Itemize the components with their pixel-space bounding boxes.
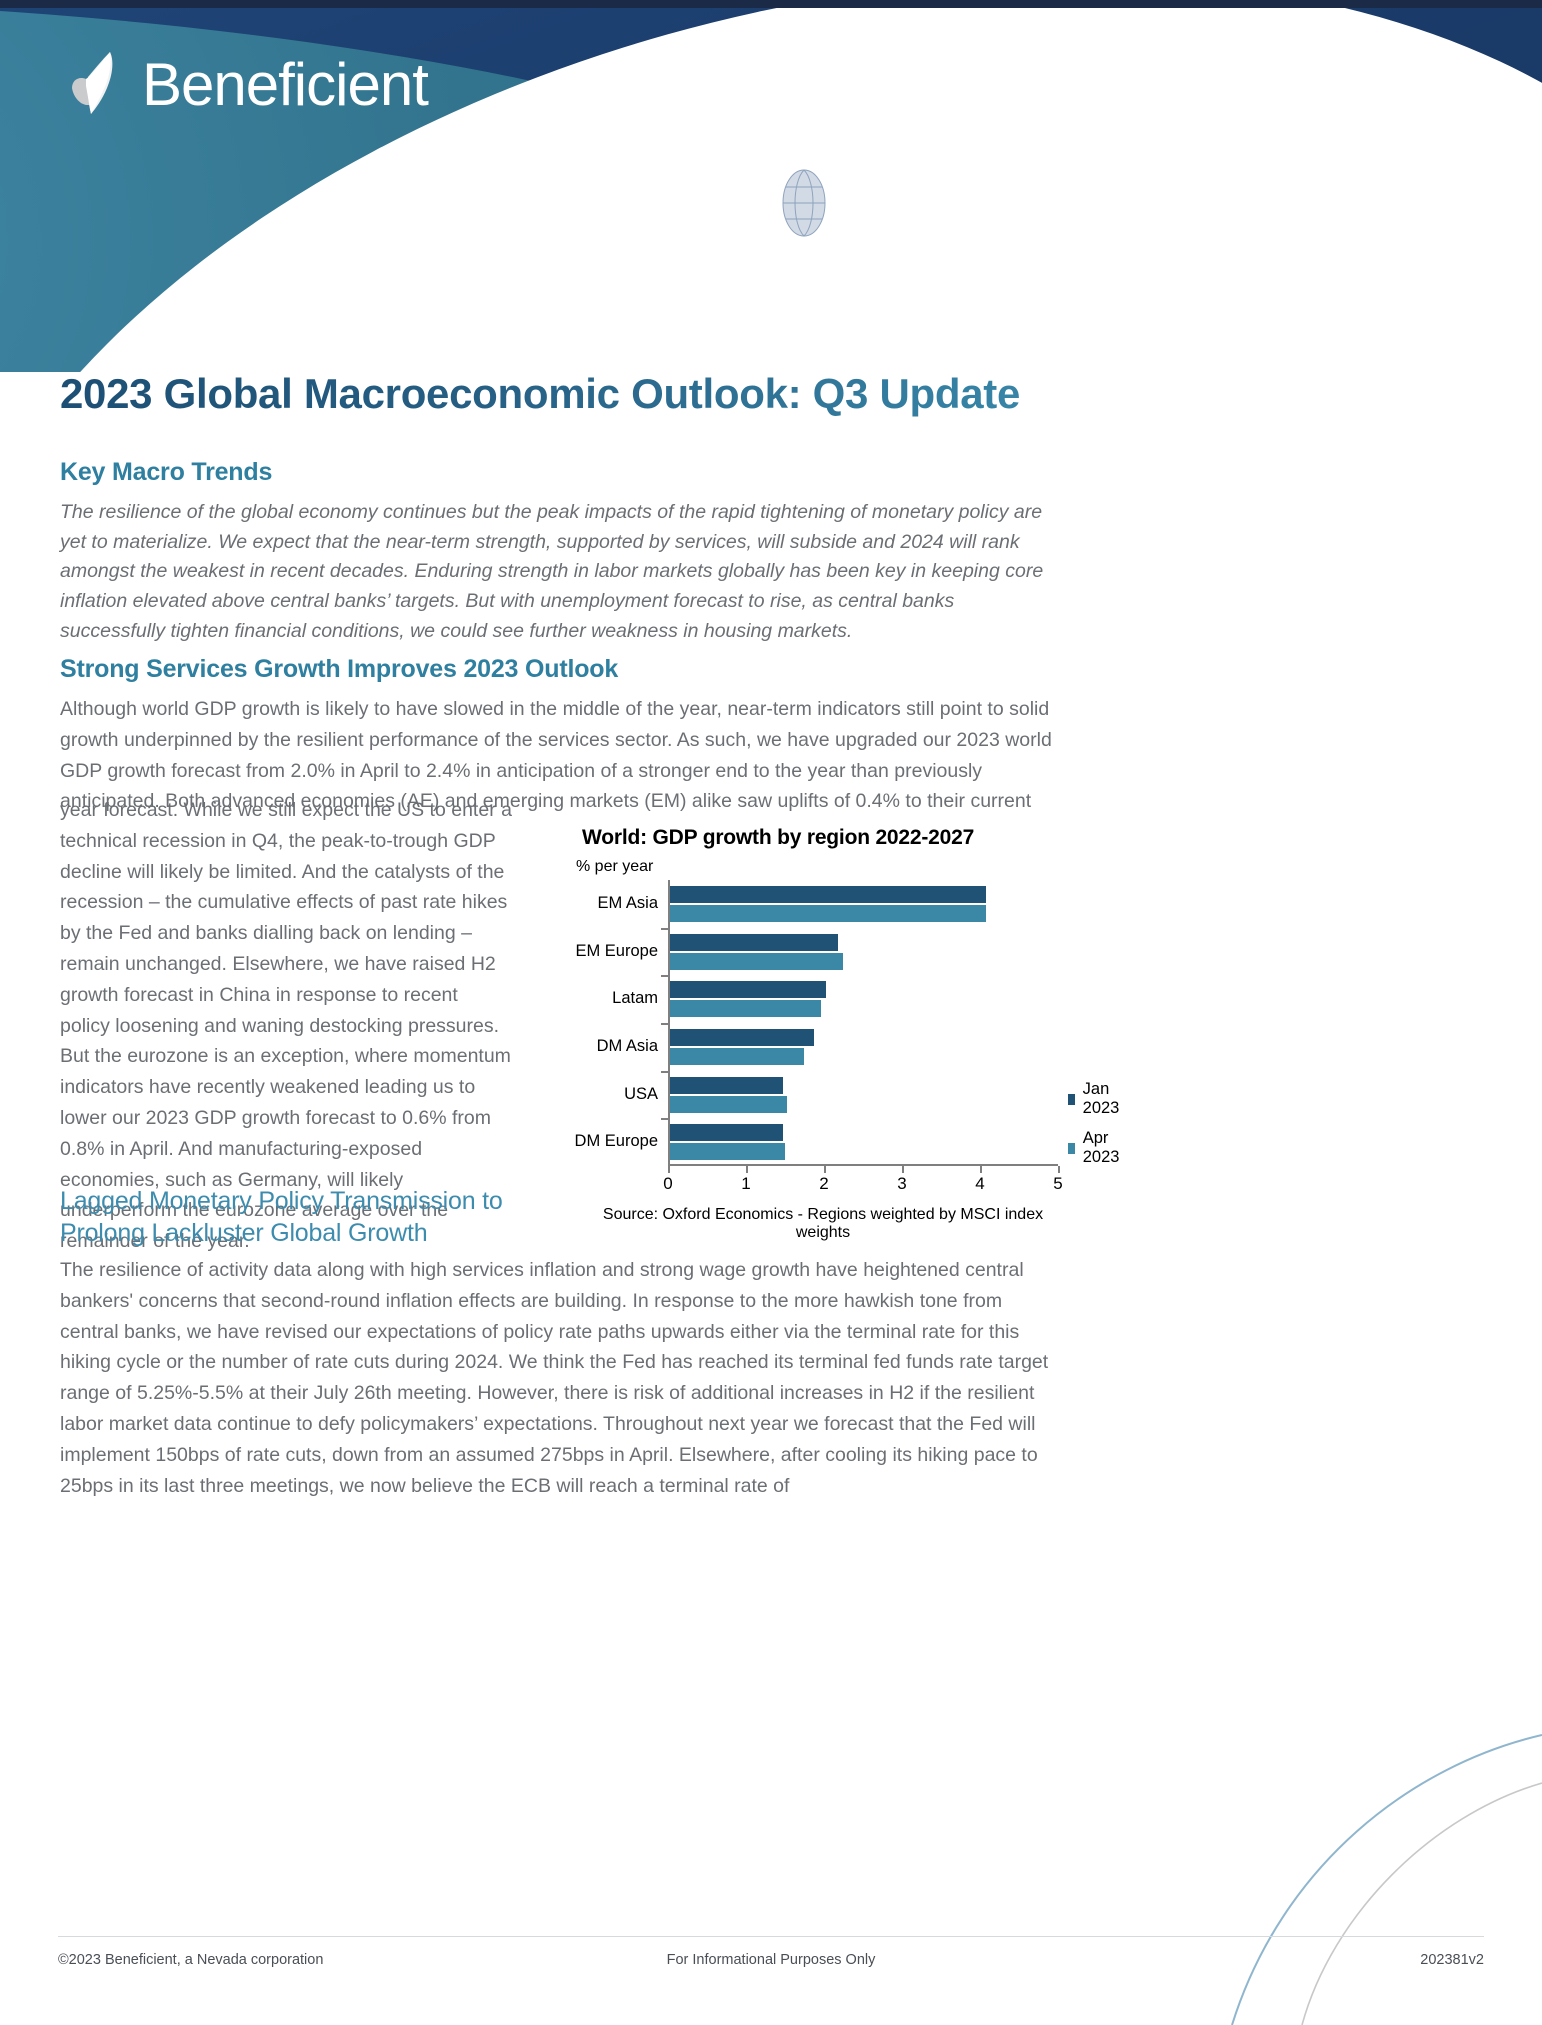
chart-x-tick [1058, 1166, 1060, 1173]
chart-bar [670, 1000, 821, 1017]
chart-bar-group: DM Europe [670, 1124, 785, 1160]
partner-name-line-2: ECONOMICS [854, 206, 1079, 236]
chart-bar-group: USA [670, 1077, 787, 1113]
chart-x-tick-labels: 012345 [668, 1174, 1058, 1198]
chart-bar-group: DM Asia [670, 1029, 814, 1065]
chart-x-tick [824, 1166, 826, 1173]
footer-divider [58, 1936, 1484, 1937]
chart-y-tick [661, 928, 668, 930]
chart-y-tick [661, 1118, 668, 1120]
gdp-growth-chart: World: GDP growth by region 2022-2027 % … [556, 826, 1076, 1230]
chart-x-tick-label: 5 [1053, 1174, 1062, 1194]
chart-legend-item: Apr 2023 [1068, 1129, 1124, 1167]
beneficient-checkmark-icon [66, 46, 128, 124]
footer-decorative-swoosh [982, 1725, 1542, 2025]
chart-bar [670, 953, 843, 970]
chart-plot-area: Jan 2023Apr 2023 EM AsiaEM EuropeLatamDM… [668, 880, 1058, 1166]
chart-legend-swatch [1068, 1094, 1075, 1105]
section-heading-key-macro-trends: Key Macro Trends [60, 458, 272, 487]
page-header: Beneficient In partnership with OXFORD E… [0, 0, 1542, 372]
chart-bar [670, 1096, 787, 1113]
chart-title: World: GDP growth by region 2022-2027 [582, 826, 974, 850]
chart-bar-group: EM Asia [670, 886, 986, 922]
chart-x-tick-label: 4 [975, 1174, 984, 1194]
chart-x-tick-label: 3 [897, 1174, 906, 1194]
chart-bar [670, 1143, 785, 1160]
chart-legend-label: Jan 2023 [1083, 1080, 1124, 1118]
chart-bar [670, 981, 826, 998]
section-heading-strong-services: Strong Services Growth Improves 2023 Out… [60, 655, 618, 684]
key-macro-trends-intro: The resilience of the global economy con… [60, 498, 1064, 646]
chart-x-tick [902, 1166, 904, 1173]
section-heading-lagged-policy: Lagged Monetary Policy Transmission to P… [60, 1185, 530, 1249]
oxford-economics-logo: OXFORD ECONOMICS [772, 164, 1079, 242]
chart-category-label: EM Asia [597, 894, 658, 913]
document-page: Beneficient In partnership with OXFORD E… [0, 0, 1542, 2025]
chart-y-tick [661, 1023, 668, 1025]
chart-x-tick [668, 1166, 670, 1173]
chart-x-tick-label: 2 [819, 1174, 828, 1194]
chart-y-tick [661, 975, 668, 977]
chart-category-label: Latam [612, 989, 658, 1008]
chart-x-tick [980, 1166, 982, 1173]
chart-x-tick-label: 0 [663, 1174, 672, 1194]
chart-bar [670, 1029, 814, 1046]
chart-bar [670, 886, 986, 903]
chart-bar [670, 1124, 783, 1141]
chart-y-tick [661, 1071, 668, 1073]
chart-category-label: USA [624, 1085, 658, 1104]
chart-bar [670, 905, 986, 922]
chart-bar [670, 1048, 804, 1065]
chart-y-axis [668, 880, 670, 1166]
chart-x-tick [746, 1166, 748, 1173]
partner-name-line-1: OXFORD [854, 171, 1079, 202]
chart-bar [670, 934, 838, 951]
chart-category-label: EM Europe [575, 942, 658, 961]
chart-category-label: DM Asia [597, 1037, 658, 1056]
chart-bar [670, 1077, 783, 1094]
chart-bar-group: Latam [670, 981, 826, 1017]
brand-name: Beneficient [142, 55, 428, 115]
footer-disclaimer: For Informational Purposes Only [0, 1952, 1542, 1968]
chart-subtitle: % per year [576, 858, 653, 876]
chart-x-tick-label: 1 [741, 1174, 750, 1194]
chart-legend-item: Jan 2023 [1068, 1080, 1124, 1118]
chart-legend-swatch [1068, 1143, 1075, 1154]
brand-logo: Beneficient [66, 46, 428, 124]
footer-document-id: 202381v2 [1420, 1952, 1484, 1968]
header-top-strip [0, 0, 1542, 8]
chart-source: Source: Oxford Economics - Regions weigh… [578, 1206, 1068, 1242]
chart-legend: Jan 2023Apr 2023 [1068, 1080, 1124, 1178]
chart-bar-group: EM Europe [670, 934, 843, 970]
lagged-policy-paragraph: The resilience of activity data along wi… [60, 1255, 1064, 1501]
chart-x-axis [668, 1164, 1058, 1166]
page-title: 2023 Global Macroeconomic Outlook: Q3 Up… [60, 370, 1260, 418]
chart-legend-label: Apr 2023 [1083, 1129, 1124, 1167]
oxford-economics-globe-icon [772, 164, 836, 242]
partnership-label: In partnership with [758, 126, 1098, 148]
chart-category-label: DM Europe [575, 1132, 658, 1151]
oxford-economics-wordmark: OXFORD ECONOMICS [854, 171, 1079, 235]
